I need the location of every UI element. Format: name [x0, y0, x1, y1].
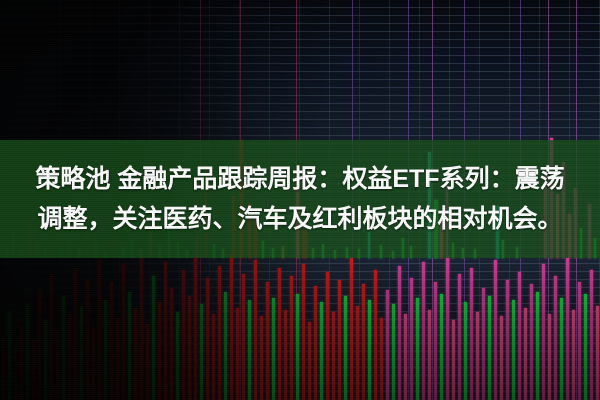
- headline-line-1: 策略池 金融产品跟踪周报：权益ETF系列：震荡: [35, 159, 564, 199]
- bottom-shadow: [0, 255, 600, 400]
- headline-line-2: 调整，关注医药、汽车及红利板块的相对机会。: [37, 199, 562, 239]
- chart-banner-image: 策略池 金融产品跟踪周报：权益ETF系列：震荡 调整，关注医药、汽车及红利板块的…: [0, 0, 600, 400]
- headline-band: 策略池 金融产品跟踪周报：权益ETF系列：震荡 调整，关注医药、汽车及红利板块的…: [0, 140, 600, 258]
